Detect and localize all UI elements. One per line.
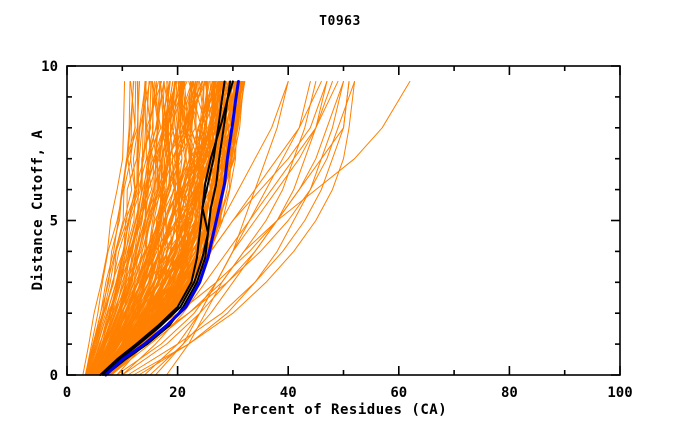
x-tick-label: 80 <box>501 385 518 401</box>
x-axis-label: Percent of Residues (CA) <box>0 402 680 418</box>
y-axis-label: Distance Cutoff, A <box>30 80 46 340</box>
x-tick-label: 100 <box>607 385 632 401</box>
x-tick-label: 60 <box>390 385 407 401</box>
x-tick-label: 20 <box>169 385 186 401</box>
plot-svg: 0204060801000510 <box>0 0 680 440</box>
x-tick-label: 0 <box>63 385 71 401</box>
y-tick-label: 10 <box>41 59 58 75</box>
curves-layer <box>83 81 410 375</box>
y-tick-label: 0 <box>50 368 58 384</box>
y-tick-label: 5 <box>50 214 58 230</box>
x-tick-label: 40 <box>280 385 297 401</box>
figure-canvas: T0963 0204060801000510 Percent of Residu… <box>0 0 680 440</box>
